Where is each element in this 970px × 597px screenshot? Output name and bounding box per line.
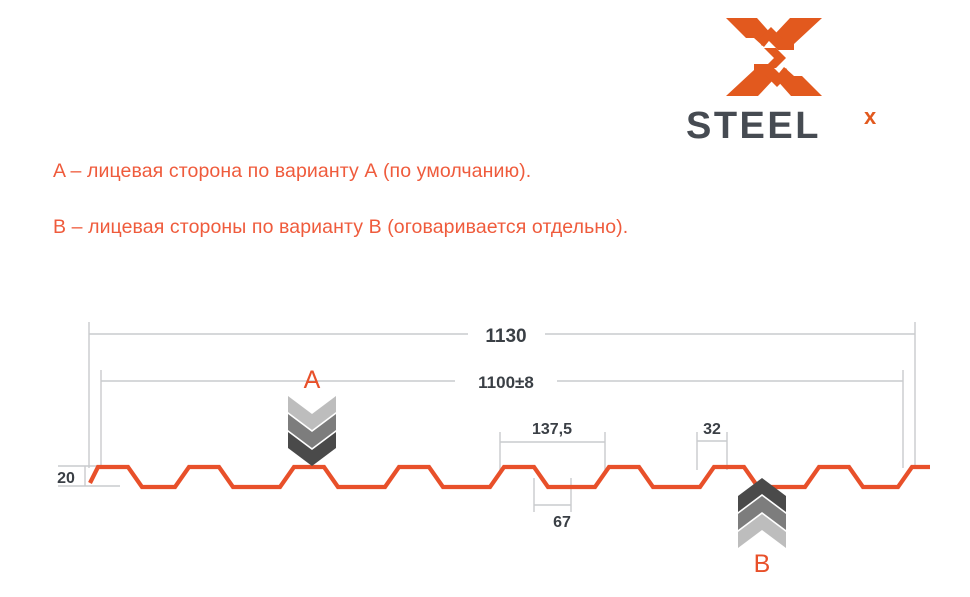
dimension-useful-width: 1100±8	[101, 370, 903, 468]
profile-cross-section-drawing: 1130 1100±8 137,5 32 67 20	[0, 0, 970, 597]
dimension-total-width: 1130	[89, 322, 915, 468]
dimension-profile-height: 20	[57, 466, 120, 487]
marker-variant-b: B	[738, 478, 786, 578]
marker-a-label: A	[304, 366, 321, 394]
dimension-label-profile-height: 20	[57, 470, 75, 487]
dimension-crest-width: 32	[697, 421, 727, 470]
corrugated-profile-line	[90, 467, 930, 487]
dimension-label-total-width: 1130	[485, 326, 526, 347]
marker-b-label: B	[754, 550, 771, 578]
dimension-label-useful-width: 1100±8	[478, 373, 534, 392]
dimension-label-wave-pitch: 137,5	[532, 421, 572, 438]
dimension-label-valley-width: 67	[553, 514, 571, 531]
dimension-label-crest-width: 32	[703, 421, 721, 438]
